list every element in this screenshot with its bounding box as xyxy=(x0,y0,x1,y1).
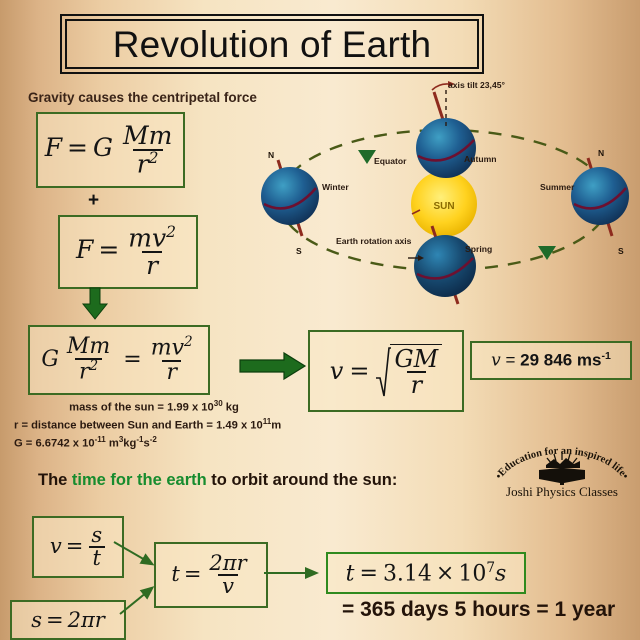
pole-label-south-right: S xyxy=(618,246,624,256)
formula-period-numerator: 2πr xyxy=(205,553,250,574)
constant-gravitational: G = 6.6742 x 10-11 m3kg-1s-2 xyxy=(14,434,294,452)
sqrt-icon: GM r xyxy=(375,344,442,398)
period-result-unit: s xyxy=(495,561,506,586)
constant-mass-sun: mass of the sun = 1.99 x 1030 kg xyxy=(14,398,294,416)
pole-label-north-left: N xyxy=(268,150,274,160)
velocity-result-unit-exponent: -1 xyxy=(601,350,610,362)
diagram-label-sun: SUN xyxy=(433,201,454,212)
earth-revolution-diagram: SUN xyxy=(252,78,640,310)
formula-combined-den2: r xyxy=(162,360,181,384)
formula-combined-eq: = xyxy=(123,347,141,372)
formula-gravitation-eq: = xyxy=(67,133,88,162)
year-equivalence-text: = 365 days 5 hours = 1 year xyxy=(342,598,615,622)
velocity-result-box: v = 29 846 ms-1 xyxy=(470,341,632,380)
time-heading-highlight: time for the earth xyxy=(72,471,207,489)
formula-centripetal-box: F= mv2 r xyxy=(58,215,198,289)
formula-combined-box: G Mm r2 = mv2 r xyxy=(28,325,210,395)
diagram-label-autumn: Autumn xyxy=(464,154,496,164)
diagram-label-equator: Equator xyxy=(374,156,406,166)
formula-speed-numerator: s xyxy=(87,525,106,546)
period-result-box: t=3.14×107s xyxy=(326,552,526,594)
formula-combined-num2: mv2 xyxy=(147,336,197,360)
logo: •Education for an inspired life• Joshi P… xyxy=(492,444,632,506)
formula-circ-lhs: s xyxy=(31,608,42,632)
formula-period-denominator: v xyxy=(218,574,238,597)
formula-centripetal-eq: = xyxy=(98,235,119,264)
velocity-result-unit: ms xyxy=(577,351,602,370)
formula-velocity-denominator: r xyxy=(407,371,426,397)
earth-spring xyxy=(414,226,476,304)
formula-gravitation-box: F=G Mm r2 xyxy=(36,112,185,188)
diagram-label-summer: Summer xyxy=(540,182,574,192)
formula-centripetal-numerator: mv2 xyxy=(124,225,180,251)
pole-label-north-right: N xyxy=(598,148,604,158)
plus-operator: + xyxy=(88,190,99,212)
diagram-label-winter: Winter xyxy=(322,182,349,192)
pole-label-south-left: S xyxy=(296,246,302,256)
infographic-canvas: Revolution of Earth Gravity causes the c… xyxy=(0,0,640,640)
diagram-label-spring: Spring xyxy=(465,244,492,254)
formula-speed-eq: = xyxy=(66,534,84,558)
period-result-eq: = xyxy=(360,561,378,586)
velocity-result-lhs: v xyxy=(491,351,501,371)
diagram-label-rotation-axis: Earth rotation axis xyxy=(336,236,411,246)
velocity-result-eq: = xyxy=(505,351,515,370)
formula-speed-lhs: v xyxy=(50,534,62,558)
period-result-base: 10 xyxy=(458,561,486,586)
time-heading-before: The xyxy=(38,471,72,489)
formula-gravitation-coef: G xyxy=(93,133,113,162)
logo-name: Joshi Physics Classes xyxy=(492,484,632,500)
formula-velocity-eq: = xyxy=(349,357,369,385)
arrow-period-to-result-icon xyxy=(264,565,326,581)
formula-gravitation-lhs: F xyxy=(45,133,62,162)
page-title-box: Revolution of Earth xyxy=(60,14,484,74)
page-title: Revolution of Earth xyxy=(113,26,431,63)
constants-list: mass of the sun = 1.99 x 1030 kg r = dis… xyxy=(14,398,294,453)
formula-combined-coef: G xyxy=(41,347,59,372)
constant-distance: r = distance between Sun and Earth = 1.4… xyxy=(14,416,294,434)
diagram-label-axis-tilt: axis tilt 23,45° xyxy=(448,80,505,90)
formula-circ-rhs: 2πr xyxy=(68,608,105,632)
formula-gravitation-denominator: r2 xyxy=(133,149,163,177)
arrow-speed-to-period-icon xyxy=(110,528,166,620)
earth-winter xyxy=(261,160,319,236)
formula-circ-eq: = xyxy=(46,608,64,632)
arrow-down-icon xyxy=(82,288,108,320)
formula-velocity-lhs: v xyxy=(330,357,344,385)
formula-speed-denominator: t xyxy=(89,546,105,569)
arrow-right-icon xyxy=(240,352,306,380)
velocity-result-value: 29 846 xyxy=(520,351,572,370)
period-result-times: × xyxy=(436,561,454,586)
formula-period-eq: = xyxy=(184,562,202,586)
earth-summer xyxy=(571,158,629,236)
formula-combined-num1: Mm xyxy=(63,336,114,358)
period-result-mantissa: 3.14 xyxy=(383,561,432,586)
formula-period-lhs: t xyxy=(171,562,179,586)
formula-centripetal-lhs: F xyxy=(76,235,93,264)
gravity-note: Gravity causes the centripetal force xyxy=(28,90,257,105)
formula-velocity-box: v= GM r xyxy=(308,330,464,412)
formula-circumference-box: s=2πr xyxy=(10,600,126,640)
formula-combined-den1: r2 xyxy=(75,358,102,384)
formula-gravitation-numerator: Mm xyxy=(119,123,176,149)
period-result-lhs: t xyxy=(346,561,355,586)
book-sunrise-icon xyxy=(536,452,588,486)
time-heading-after: to orbit around the sun: xyxy=(207,471,398,489)
formula-centripetal-denominator: r xyxy=(142,251,162,279)
formula-period-box: t= 2πr v xyxy=(154,542,268,608)
period-result-exponent: 7 xyxy=(486,560,495,576)
time-heading: The time for the earth to orbit around t… xyxy=(38,471,397,490)
formula-velocity-numerator: GM xyxy=(390,347,442,371)
